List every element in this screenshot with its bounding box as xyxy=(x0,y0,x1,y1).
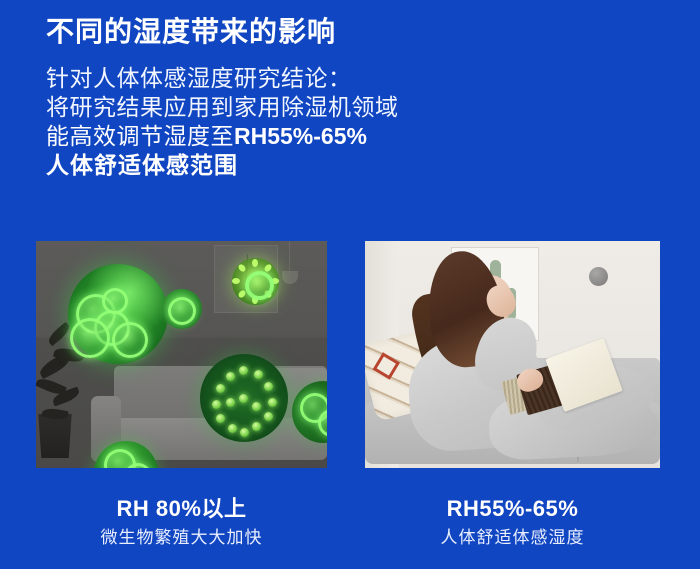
body-line-3-emphasis: RH55%-65% xyxy=(234,123,367,149)
body-text-block: 针对人体体感湿度研究结论： 将研究结果应用到家用除湿机领域 能高效调节湿度至RH… xyxy=(46,64,656,180)
humidity-infographic-poster: 不同的湿度带来的影响 针对人体体感湿度研究结论： 将研究结果应用到家用除湿机领域… xyxy=(0,0,700,569)
dark-room-scene xyxy=(36,241,327,468)
caption-high-humidity: RH 80%以上 微生物繁殖大大加快 xyxy=(36,496,327,549)
caption-title-comfort-humidity: RH55%-65% xyxy=(365,496,660,522)
photo-comfort-humidity xyxy=(365,241,660,468)
photo-row xyxy=(0,241,700,468)
microbe-sphere-corona xyxy=(200,354,288,442)
microbe-sphere-mid xyxy=(162,289,202,329)
microbe-ring xyxy=(112,322,148,358)
page-title: 不同的湿度带来的影响 xyxy=(46,14,656,50)
body-line-3-prefix: 能高效调节湿度至 xyxy=(46,123,234,149)
caption-subtitle-comfort-humidity: 人体舒适体感湿度 xyxy=(365,527,660,549)
photo-high-humidity xyxy=(36,241,327,468)
microbe-sphere-small xyxy=(232,258,279,305)
microbe-ring xyxy=(70,318,110,358)
microbe-ring xyxy=(245,271,274,300)
caption-title-high-humidity: RH 80%以上 xyxy=(36,496,327,522)
heading-block: 不同的湿度带来的影响 针对人体体感湿度研究结论： 将研究结果应用到家用除湿机领域… xyxy=(46,14,656,180)
body-line-2: 将研究结果应用到家用除湿机领域 xyxy=(46,93,656,122)
microbe-spike xyxy=(237,263,247,273)
microbe-ring xyxy=(168,297,196,325)
body-line-4: 人体舒适体感范围 xyxy=(46,151,656,180)
plant-pot-dark xyxy=(36,414,74,458)
caption-comfort-humidity: RH55%-65% 人体舒适体感湿度 xyxy=(365,496,660,549)
body-line-1: 针对人体体感湿度研究结论： xyxy=(46,64,656,93)
light-room-scene xyxy=(365,241,660,468)
microbe-spike xyxy=(252,259,258,267)
microbe-ring xyxy=(102,288,128,314)
caption-subtitle-high-humidity: 微生物繁殖大大加快 xyxy=(36,527,327,549)
microbe-spike xyxy=(232,278,240,284)
body-line-3: 能高效调节湿度至RH55%-65% xyxy=(46,122,656,151)
wall-speaker-icon xyxy=(589,267,608,286)
plant-leaf-icon xyxy=(46,322,72,346)
pendant-lamp-dark xyxy=(282,271,298,284)
microbe-sphere-large xyxy=(68,264,168,364)
pendant-cord-dark xyxy=(289,241,290,275)
